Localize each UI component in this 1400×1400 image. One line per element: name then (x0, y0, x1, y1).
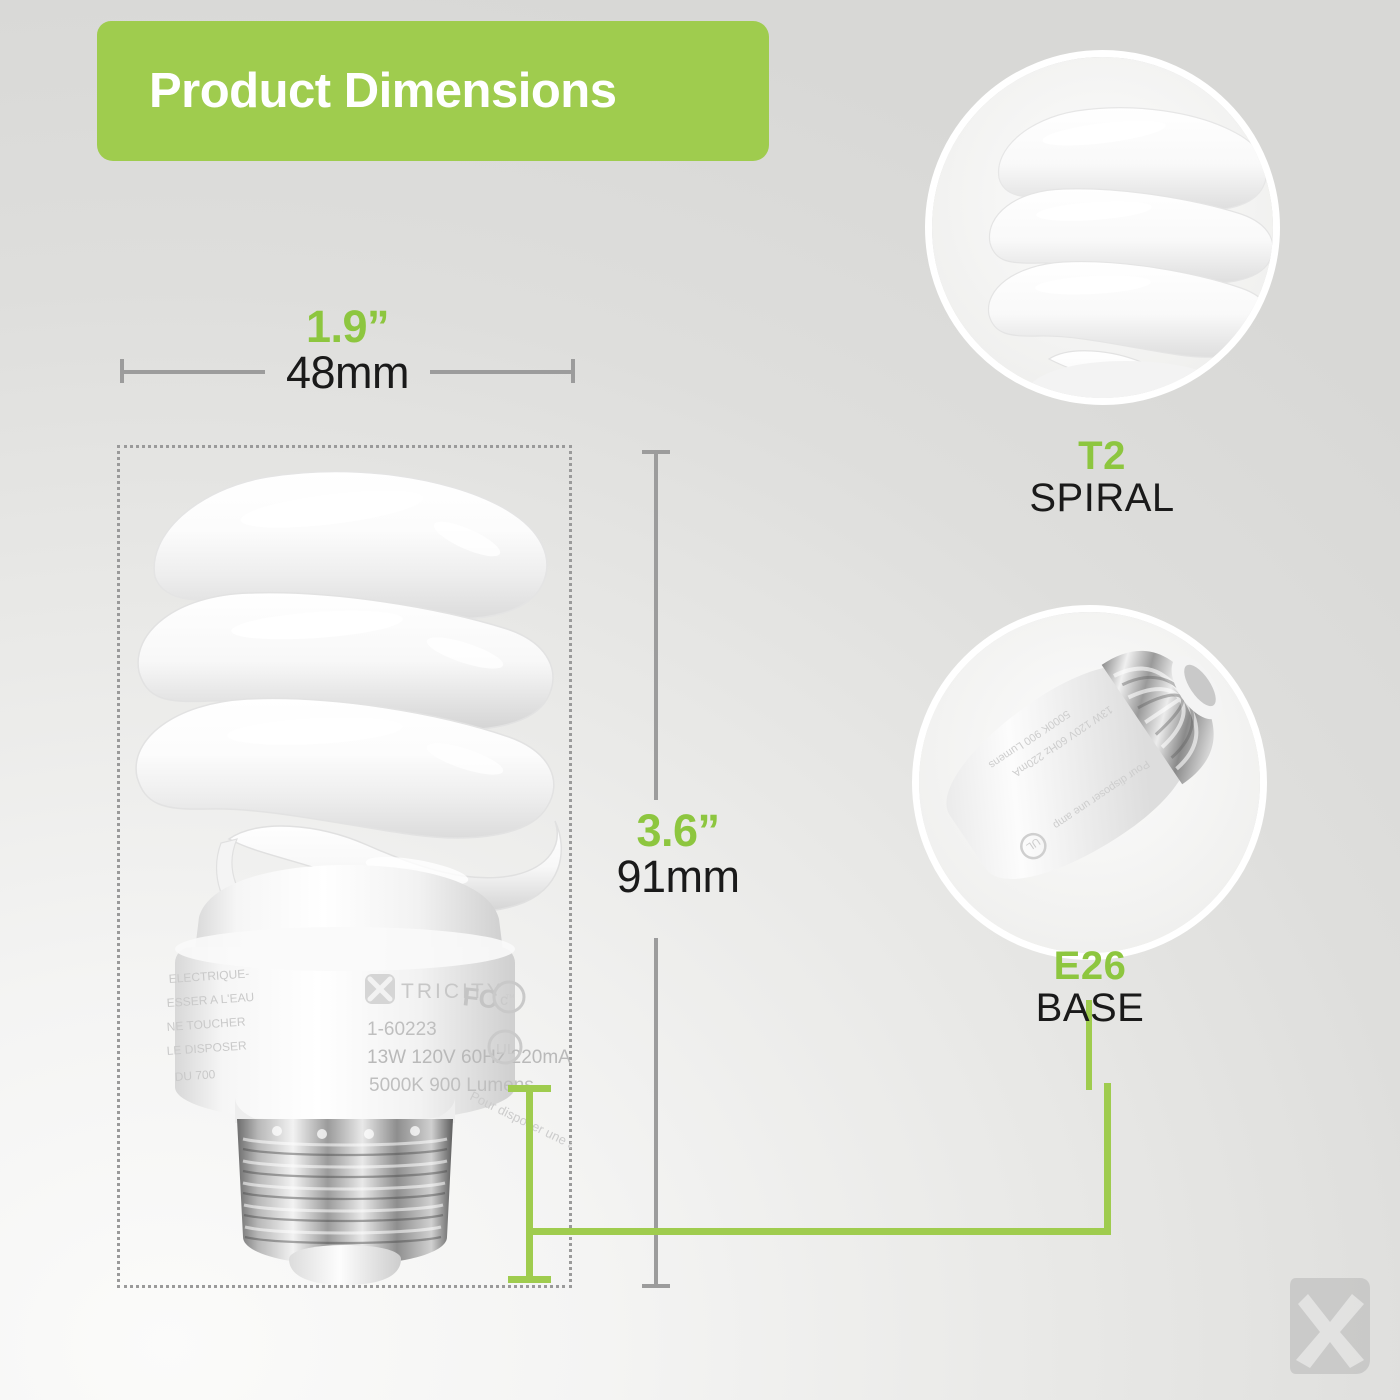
callout-e26-code: E26 (940, 946, 1240, 988)
brand-watermark-icon (1286, 1274, 1378, 1378)
width-dimension-label: 1.9” 48mm (120, 304, 575, 396)
base-bracket-vertical (526, 1085, 533, 1283)
inset-t2-spiral-image: TRICITY FC (925, 50, 1280, 405)
svg-text:c: c (500, 992, 508, 1009)
header-banner: Product Dimensions (97, 21, 769, 161)
width-dimension-line (120, 362, 575, 382)
height-dimension-label: 3.6” 91mm (588, 808, 768, 900)
base-leader-horizontal (526, 1228, 1111, 1235)
svg-text:1-60223: 1-60223 (367, 1019, 437, 1040)
infographic-canvas: Product Dimensions 1.9” 48mm 3.6” 91mm (0, 0, 1400, 1400)
height-inches-value: 3.6” (588, 808, 768, 854)
callout-t2: T2 SPIRAL (952, 436, 1252, 519)
callout-e26-name: BASE (940, 988, 1240, 1030)
svg-text:DU 700: DU 700 (174, 1067, 216, 1084)
base-leader-riser (1104, 1083, 1111, 1235)
callout-t2-name: SPIRAL (952, 478, 1252, 520)
callout-e26: E26 BASE (940, 946, 1240, 1029)
width-left-bar (120, 370, 265, 374)
base-bracket-bottom-cap (508, 1276, 551, 1283)
svg-text:UL: UL (496, 1041, 515, 1058)
inset-e26-base-image: Pour disposer une amp 13W 120V 60Hz 220m… (912, 605, 1267, 960)
height-mm-value: 91mm (588, 854, 768, 900)
width-inches-value: 1.9” (120, 304, 575, 350)
width-right-bar (430, 370, 575, 374)
height-top-bar (654, 450, 658, 800)
callout-t2-code: T2 (952, 436, 1252, 478)
base-measurement-leader (500, 1065, 1120, 1290)
width-right-cap (571, 359, 575, 383)
page-title: Product Dimensions (149, 63, 616, 119)
